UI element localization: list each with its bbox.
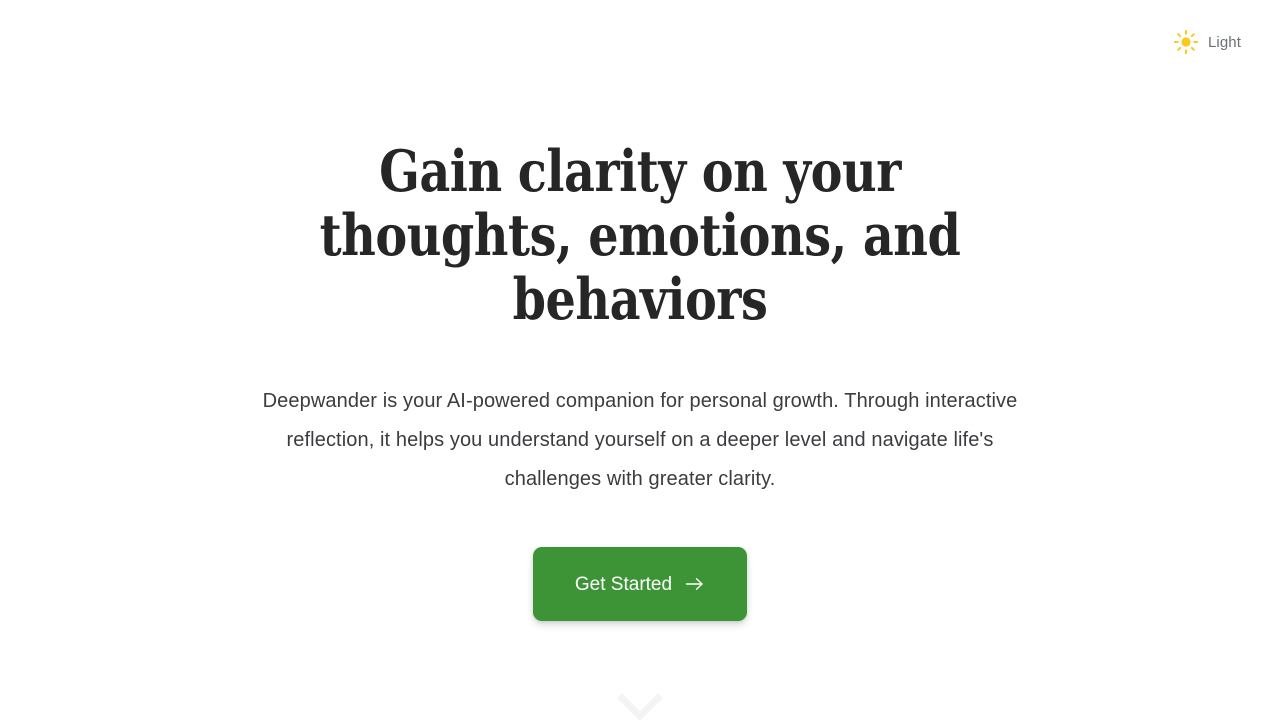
cta-container: Get Started xyxy=(533,547,747,621)
page-title: Gain clarity on your thoughts, emotions,… xyxy=(287,140,994,332)
arrow-right-icon xyxy=(685,576,705,592)
hero-section: Gain clarity on your thoughts, emotions,… xyxy=(0,0,1280,720)
get-started-button[interactable]: Get Started xyxy=(533,547,747,621)
hero-subtitle: Deepwander is your AI-powered companion … xyxy=(254,382,1026,499)
get-started-label: Get Started xyxy=(575,575,672,594)
